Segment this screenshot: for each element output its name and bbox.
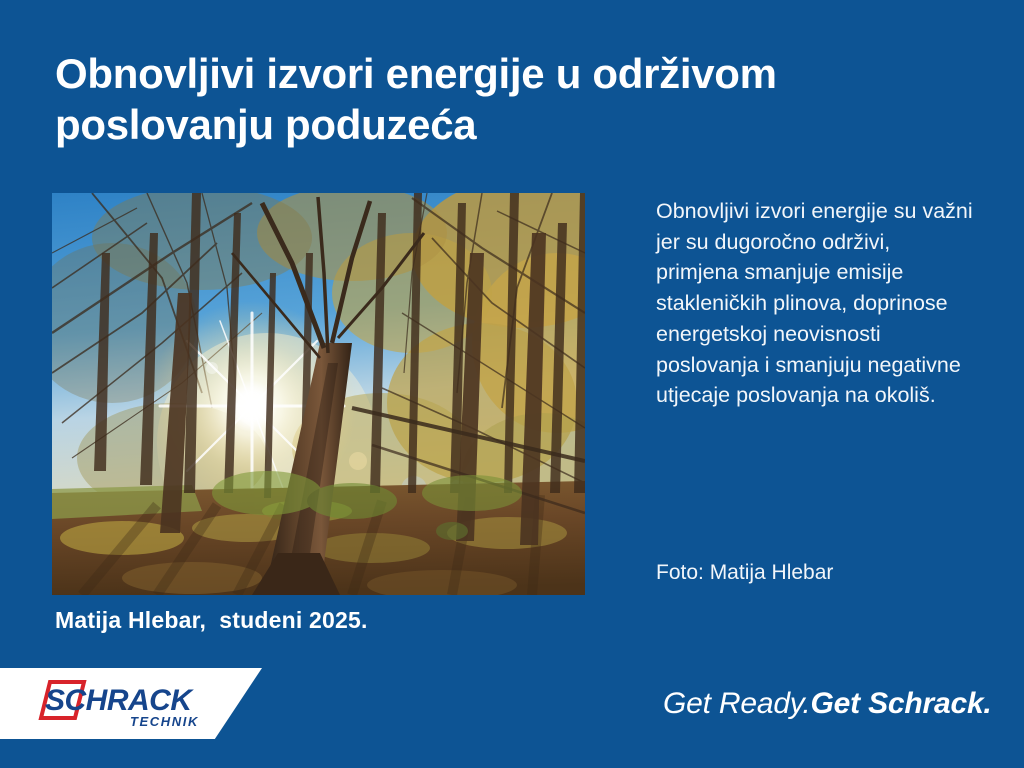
forest-photo [52,193,585,595]
logo-subbrand-text: TECHNIK [130,714,199,729]
photo-credit: Foto: Matija Hlebar [656,561,833,585]
presentation-slide: Obnovljivi izvori energije u održivom po… [0,0,1024,768]
body-paragraph: Obnovljivi izvori energije su važni jer … [656,196,976,411]
slide-title: Obnovljivi izvori energije u održivom po… [55,48,975,150]
logo-brand-text: SCHRACK [45,684,194,717]
tagline: Get Ready.Get Schrack. [663,687,992,721]
forest-photo-illustration [52,193,585,595]
author-date-line: Matija Hlebar, studeni 2025. [55,607,368,634]
schrack-technik-logo: SCHRACK TECHNIK [38,678,228,730]
tagline-light-part: Get Ready. [663,687,811,720]
tagline-bold-part: Get Schrack. [811,687,992,720]
schrack-logo-mark: SCHRACK TECHNIK [38,678,228,730]
